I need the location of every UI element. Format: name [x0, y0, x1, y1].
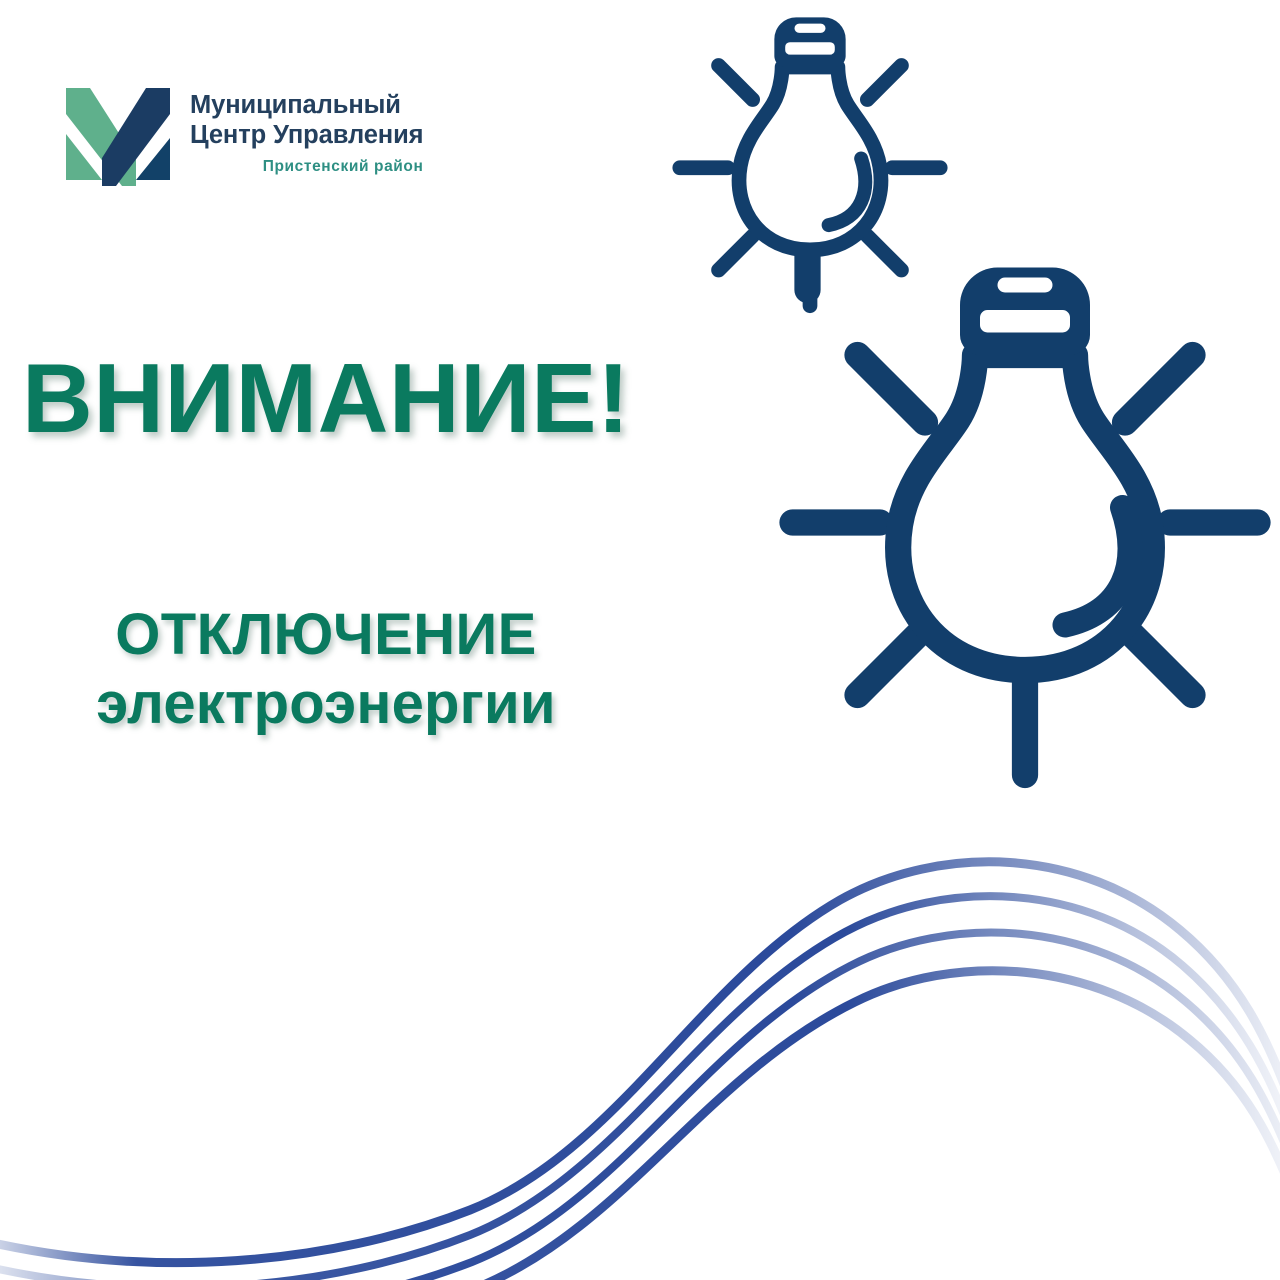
- bulb-cap-slot-lower: [980, 310, 1070, 333]
- logo-district-label: Пристенский район: [190, 158, 423, 176]
- bulb-highlight-arc: [1065, 508, 1130, 626]
- headline-attention: ВНИМАНИЕ!: [22, 349, 630, 447]
- bulb-highlight-arc: [829, 158, 866, 225]
- light-bulb-large-icon: [775, 245, 1275, 790]
- subtitle-block: ОТКЛЮЧЕНИЕ электроэнергии: [0, 604, 652, 735]
- subtitle-line-1: ОТКЛЮЧЕНИЕ: [0, 604, 652, 665]
- subtitle-line-2: электроэнергии: [0, 673, 652, 734]
- wave-line-1: [0, 862, 1280, 1263]
- logo-title-line-1: Муниципальный: [190, 90, 423, 120]
- bulb-cap-slot-upper: [998, 278, 1053, 293]
- bulb-cap-slot-lower: [785, 42, 835, 54]
- logo-title-line-2: Центр Управления: [190, 120, 423, 150]
- wave-line-4: [0, 971, 1280, 1280]
- announcement-poster: Муниципальный Центр Управления Пристенск…: [0, 0, 1280, 1280]
- chevron-m-logo-icon: [62, 82, 174, 186]
- decorative-sine-wave: [0, 810, 1280, 1280]
- logo-text-block: Муниципальный Центр Управления Пристенск…: [190, 82, 423, 176]
- bulb-cap-slot-upper: [795, 24, 826, 33]
- organization-logo: Муниципальный Центр Управления Пристенск…: [62, 82, 423, 186]
